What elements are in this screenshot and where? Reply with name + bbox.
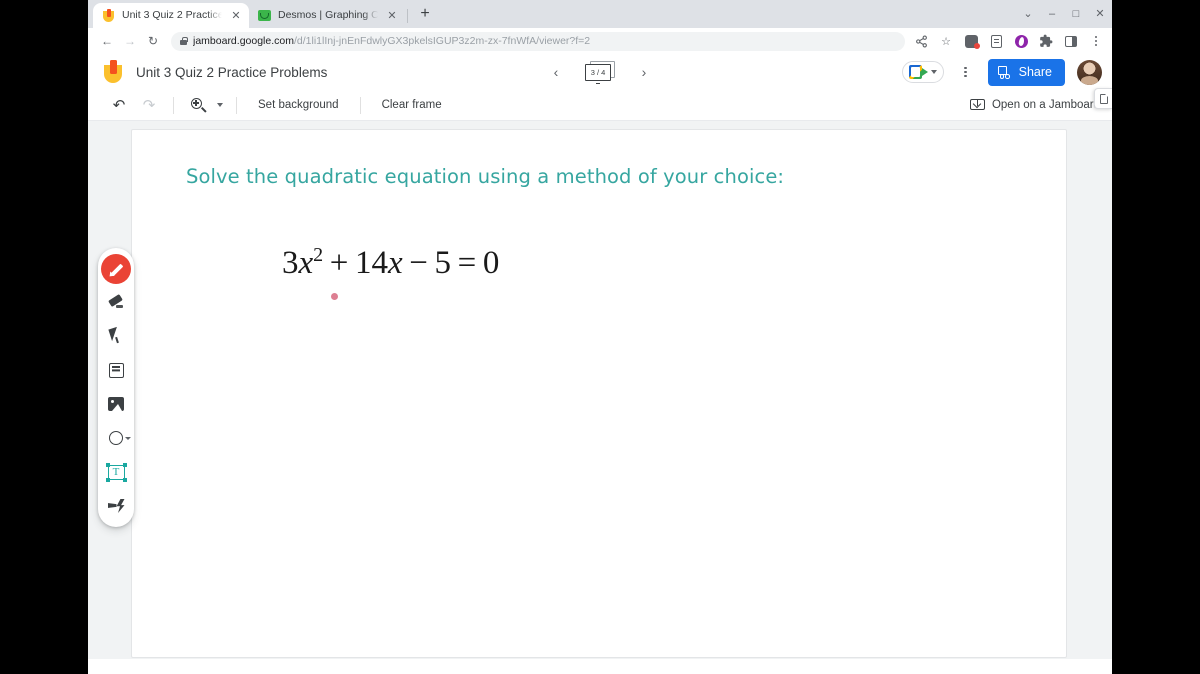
url-host: jamboard.google.com [193,35,294,47]
toolbar-divider [173,97,174,114]
side-panel-icon[interactable] [1061,31,1081,51]
side-panel-toggle[interactable] [1094,88,1112,109]
equation-exponent: 2 [313,244,323,266]
equation-right-side: 0 [483,245,500,281]
jamboard-workspace: Solve the quadratic equation using a met… [88,121,1112,659]
browser-window: Unit 3 Quiz 2 Practice Problems ✕ Desmos… [88,0,1112,674]
image-icon [108,397,124,411]
avatar[interactable] [1077,60,1102,85]
text-box-tool[interactable]: T [98,455,134,489]
equation-operator-1: + [330,245,349,281]
clear-frame-button[interactable]: Clear frame [370,99,454,111]
jamboard-header: Unit 3 Quiz 2 Practice Problems ‹ 3 / 4 … [88,54,1112,90]
eraser-icon [108,295,125,310]
jamboard-logo-icon [102,60,124,84]
omnibox-action-icons: ☆ [911,31,1106,51]
extensions-puzzle-icon[interactable] [1036,31,1056,51]
chrome-menu-icon[interactable] [1086,31,1106,51]
zoom-in-icon[interactable] [183,92,213,118]
url-path: /d/1li1lInj-jnEnFdwlyGX3pkelsIGUP3z2m-zx… [294,35,590,47]
minimize-icon[interactable]: – [1040,0,1064,27]
zoom-dropdown-icon[interactable] [217,103,223,107]
chevron-down-icon [931,70,937,74]
equation-coefficient-b: 14 [355,245,388,281]
redo-icon[interactable]: ↷ [134,92,164,118]
equation-constant: 5 [435,245,452,281]
share-lock-icon [998,66,1012,79]
share-button[interactable]: Share [988,59,1065,86]
frame-counter-label: 3 / 4 [585,64,611,81]
open-on-jamboard-button[interactable]: Open on a Jamboard [970,99,1102,112]
reading-list-icon[interactable] [986,31,1006,51]
tab-divider [407,9,408,23]
bookmark-star-icon[interactable]: ☆ [936,31,956,51]
next-frame-icon[interactable]: › [634,62,654,82]
tab-title: Desmos | Graphing Calculator [278,3,378,28]
eraser-tool[interactable] [98,285,134,319]
equation-variable: x [299,245,314,281]
tab-strip: Unit 3 Quiz 2 Practice Problems ✕ Desmos… [88,0,1112,28]
extension-purple-icon[interactable] [1011,31,1031,51]
tool-rail: T [98,248,134,527]
toolbar-divider [360,97,361,114]
address-bar[interactable]: jamboard.google.com/d/1li1lInj-jnEnFdwly… [171,32,905,51]
tab-close-icon[interactable]: ✕ [229,9,243,23]
browser-toolbar: ← → ↻ jamboard.google.com/d/1li1lInj-jnE… [88,28,1112,54]
toolbar-divider [236,97,237,114]
window-controls: ⌄ – □ ✕ [1016,0,1112,27]
jamboard-favicon-icon [102,9,115,22]
jamboard-toolbar: ↶ ↷ Set background Clear frame Open on a… [88,90,1112,121]
open-on-jamboard-label: Open on a Jamboard [992,99,1100,111]
url-text: jamboard.google.com/d/1li1lInj-jnEnFdwly… [193,32,590,51]
header-actions: Share [902,59,1102,86]
equation-coefficient-a: 3 [282,245,299,281]
frame-counter[interactable]: 3 / 4 [584,61,616,83]
cast-icon [970,99,985,112]
maximize-icon[interactable]: □ [1064,0,1088,27]
sticky-note-tool[interactable] [98,353,134,387]
tab-close-icon[interactable]: ✕ [385,9,399,23]
tab-title: Unit 3 Quiz 2 Practice Problems [122,3,222,28]
close-window-icon[interactable]: ✕ [1088,0,1112,27]
equation-equals: = [458,245,477,281]
frame-navigation: ‹ 3 / 4 › [546,61,654,83]
jam-canvas[interactable]: Solve the quadratic equation using a met… [131,129,1067,658]
text-box-icon: T [108,465,125,480]
equation-variable-b: x [388,245,403,281]
select-tool[interactable] [98,319,134,353]
pen-tool[interactable] [101,254,131,284]
share-icon[interactable] [911,31,931,51]
secure-lock-icon [180,37,187,45]
shape-tool[interactable] [98,421,134,455]
reload-icon[interactable]: ↻ [142,30,164,52]
browser-tab-desmos[interactable]: Desmos | Graphing Calculator ✕ [249,3,405,28]
question-text: Solve the quadratic equation using a met… [186,165,784,188]
laser-tool[interactable] [98,489,134,523]
forward-icon[interactable]: → [119,30,141,52]
laser-pointer-icon [108,499,125,513]
sticky-note-icon [109,363,124,378]
chevron-down-icon[interactable]: ⌄ [1016,0,1040,27]
page-icon [1100,94,1108,104]
browser-tab-jamboard[interactable]: Unit 3 Quiz 2 Practice Problems ✕ [93,3,249,28]
share-button-label: Share [1019,65,1052,79]
pen-mark [331,293,338,300]
chevron-down-icon [125,437,131,440]
image-tool[interactable] [98,387,134,421]
new-tab-button[interactable]: + [412,1,438,27]
desmos-favicon-icon [258,9,271,22]
equation-text: 3x2 + 14x − 5 = 0 [282,245,499,282]
back-icon[interactable]: ← [96,30,118,52]
equation-operator-2: − [409,245,428,281]
circle-shape-icon [109,431,123,445]
page-title[interactable]: Unit 3 Quiz 2 Practice Problems [136,65,327,80]
google-meet-icon [909,65,928,79]
extension-notification-icon[interactable] [961,31,981,51]
screen-letterbox: Unit 3 Quiz 2 Practice Problems ✕ Desmos… [0,0,1200,674]
more-options-icon[interactable] [956,62,976,82]
previous-frame-icon[interactable]: ‹ [546,62,566,82]
undo-icon[interactable]: ↶ [104,92,134,118]
cursor-arrow-icon [110,328,123,344]
pen-icon [109,262,124,277]
google-meet-button[interactable] [902,61,944,83]
set-background-button[interactable]: Set background [246,99,351,111]
